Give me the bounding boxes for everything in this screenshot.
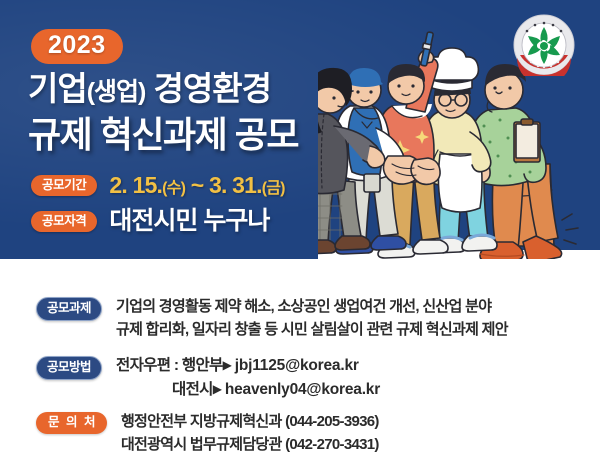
- period-end-weekday: (금): [262, 180, 285, 197]
- contact-label: 문 의 처: [36, 412, 107, 434]
- method-text: 전자우편 : 행안부▶ jbj1125@korea.kr 대전시▶ heaven…: [116, 354, 380, 402]
- poster-root: 2023 기업(생업) 경영환경 규제 혁신과제 공모 공모기간 2. 15.(…: [0, 0, 600, 470]
- arrow-right-icon: ▶: [213, 382, 222, 396]
- method-line-2-email[interactable]: heavenly04@korea.kr: [225, 381, 380, 398]
- period-start: 2. 15.: [109, 172, 162, 198]
- headline-line-2: 규제 혁신과제 공모: [28, 117, 298, 153]
- task-line-2: 규제 합리화, 일자리 창출 등 시민 살림살이 관련 규제 혁신과제 제안: [116, 321, 508, 338]
- method-line-1-prefix: 전자우편 : 행안부: [116, 357, 223, 374]
- application-period-value: 2. 15.(수) ~ 3. 31.(금): [109, 174, 284, 197]
- period-end: 3. 31.: [209, 172, 262, 198]
- application-period-row: 공모기간 2. 15.(수) ~ 3. 31.(금): [31, 174, 285, 197]
- method-line-1-email[interactable]: jbj1125@korea.kr: [235, 357, 359, 374]
- headline-line-1: 기업(생업) 경영환경: [28, 72, 271, 105]
- application-period-label: 공모기간: [31, 175, 97, 197]
- eligibility-row: 공모자격 대전시민 누구나: [31, 209, 269, 234]
- method-label: 공모방법: [36, 356, 102, 380]
- contact-row: 문 의 처 행정안전부 지방규제혁신과 (044-205-3936) 대전광역시…: [36, 410, 379, 457]
- headline-line-1-paren: (생업): [87, 78, 146, 106]
- task-row: 공모과제 기업의 경영활동 제약 해소, 소상공인 생업여건 개선, 신산업 분…: [36, 295, 508, 342]
- task-line-1: 기업의 경영활동 제약 해소, 소상공인 생업여건 개선, 신산업 분야: [116, 298, 491, 315]
- arrow-right-icon: ▶: [223, 358, 232, 372]
- method-row: 공모방법 전자우편 : 행안부▶ jbj1125@korea.kr 대전시▶ h…: [36, 354, 380, 402]
- task-label: 공모과제: [36, 297, 102, 321]
- method-line-2-prefix: 대전시: [172, 381, 213, 398]
- contact-line-1: 행정안전부 지방규제혁신과 (044-205-3936): [121, 413, 379, 430]
- daejeon-city-emblem: [513, 14, 575, 76]
- info-panel: 공모과제 기업의 경영활동 제약 해소, 소상공인 생업여건 개선, 신산업 분…: [0, 259, 600, 470]
- period-start-weekday: (수): [162, 180, 185, 197]
- eligibility-value: 대전시민 누구나: [109, 209, 269, 234]
- headline-line-1-tail: 경영환경: [145, 70, 271, 107]
- contact-line-2: 대전광역시 법무규제담당관 (042-270-3431): [121, 436, 379, 453]
- period-separator: ~: [185, 172, 209, 198]
- hero-panel: 2023 기업(생업) 경영환경 규제 혁신과제 공모 공모기간 2. 15.(…: [0, 0, 600, 259]
- headline-line-1-main: 기업: [28, 70, 87, 107]
- task-text: 기업의 경영활동 제약 해소, 소상공인 생업여건 개선, 신산업 분야 규제 …: [116, 295, 508, 342]
- contact-text: 행정안전부 지방규제혁신과 (044-205-3936) 대전광역시 법무규제담…: [121, 410, 379, 457]
- eligibility-label: 공모자격: [31, 211, 97, 233]
- year-badge: 2023: [31, 29, 123, 64]
